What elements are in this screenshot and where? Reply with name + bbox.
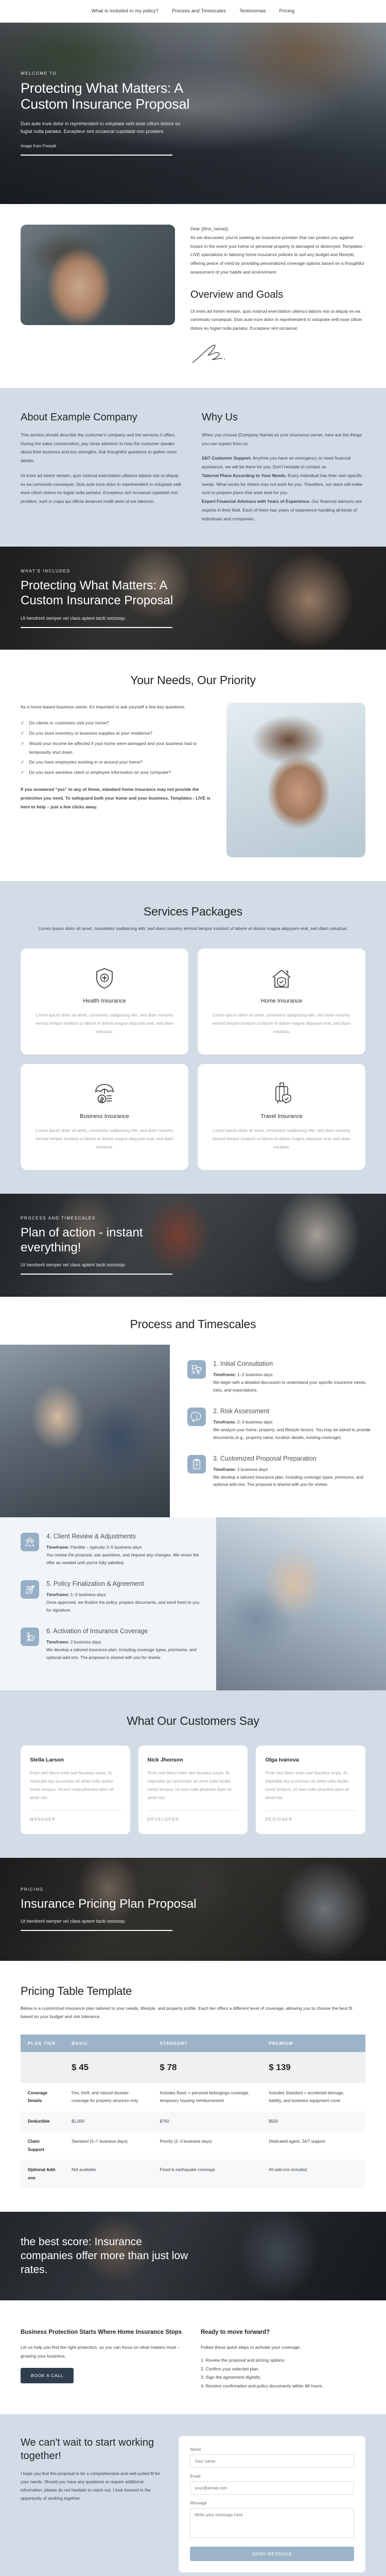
table-row: Claim Support Standard (5–7 business day… bbox=[21, 2131, 365, 2160]
needs-question-list: ✓Do clients or customers visit your home… bbox=[21, 719, 211, 777]
banner-subtitle: Ut hendrerit semper vel class aptent tac… bbox=[21, 616, 365, 621]
contact-left-text: Let us help you find the right protectio… bbox=[21, 2343, 185, 2361]
email-field-label: Email bbox=[190, 2474, 354, 2479]
quote-banner: the best score: Insurance companies offe… bbox=[0, 2212, 386, 2300]
timeframe-value: 2–3 business days bbox=[236, 1419, 273, 1425]
timeframe-value: 1–2 business days bbox=[69, 1592, 106, 1597]
timeframe-label: Timeframe: bbox=[213, 1419, 236, 1425]
process-photo-a bbox=[0, 1345, 170, 1517]
hero-subtitle: Duis aute irure dolor in reprehenderit i… bbox=[21, 120, 190, 136]
testimonial-card: Nick Jhonson Proin sed libero enim sed f… bbox=[138, 1745, 248, 1834]
why-us-item-label: Tailored Plans According to Your Needs. bbox=[202, 473, 287, 478]
contact-form-section: We can't wait to start working together!… bbox=[0, 2414, 386, 2576]
contact-right-text: Follow these quick steps to activate you… bbox=[201, 2343, 365, 2352]
needs-section: Your Needs, Our Priority As a home-based… bbox=[0, 650, 386, 881]
proposal-page: What is included in my policy? Process a… bbox=[0, 0, 386, 2576]
why-us-intro: When you choose [Company Name] as your i… bbox=[202, 431, 365, 448]
why-us-item: Expert Financial Advisors with Years of … bbox=[202, 497, 365, 523]
banner-title: Plan of action - instant everything! bbox=[21, 1225, 206, 1256]
row-label: Claim Support bbox=[21, 2131, 64, 2160]
overview-body: Ut enim ad minim veniam, quis nostrud ex… bbox=[190, 307, 365, 333]
hero-eyebrow: WELCOME TO bbox=[21, 71, 365, 76]
timeframe-label: Timeframe: bbox=[213, 1467, 236, 1472]
info-bubble-icon bbox=[187, 1408, 206, 1426]
check-icon: ✓ bbox=[21, 729, 25, 738]
umbrella-money-icon bbox=[34, 1079, 175, 1108]
cell: Not available bbox=[64, 2160, 152, 2188]
price-standart: $ 78 bbox=[152, 2052, 261, 2082]
timeframe-label: Timeframe: bbox=[46, 1545, 69, 1550]
cell: Dedicated agent, 24/7 support bbox=[261, 2131, 365, 2160]
needs-intro: As a home-based business owner, it's imp… bbox=[21, 703, 211, 711]
name-input[interactable] bbox=[190, 2454, 354, 2468]
process-step-body: Timeframe: 1–2 business daysWe begin wit… bbox=[213, 1371, 371, 1394]
price-premium: $ 139 bbox=[261, 2052, 365, 2082]
cell: Includes Basic + personal belongings cov… bbox=[152, 2083, 261, 2111]
service-card-title: Travel Insurance bbox=[211, 1113, 352, 1120]
service-card-text: Lorem ipsum dolor sit amet, consetetur s… bbox=[211, 1127, 352, 1151]
message-field-label: Message bbox=[190, 2501, 354, 2505]
check-icon: ✓ bbox=[21, 768, 25, 777]
process-step: 6. Activation of Insurance Coverage Time… bbox=[21, 1628, 201, 1662]
banner-title: Insurance Pricing Plan Proposal bbox=[21, 1896, 206, 1911]
banner-eyebrow: PROCESS AND TIMESCALES bbox=[21, 1216, 365, 1221]
process-step: 2. Risk Assessment Timeframe: 2–3 busine… bbox=[187, 1408, 371, 1442]
banner-whats-included: WHAT'S INCLUDED Protecting What Matters:… bbox=[0, 547, 386, 650]
process-step-title: 4. Client Review & Adjustments bbox=[46, 1533, 201, 1540]
letter-salutation: Dear {{first_name}}, bbox=[190, 225, 365, 233]
timeframe-label: Timeframe: bbox=[46, 1639, 69, 1645]
about-column: About Example Company This section shoul… bbox=[21, 412, 184, 523]
hero-image-credit: Image from Freepik bbox=[21, 144, 365, 148]
banner-pricing: PRICING Insurance Pricing Plan Proposal … bbox=[0, 1858, 386, 1961]
process-step-body: Timeframe: 2 business daysWe develop a t… bbox=[46, 1638, 201, 1662]
process-step-text: Once approved, we finalize the policy, p… bbox=[46, 1600, 199, 1613]
needs-question: Do you store sensitive client or employe… bbox=[29, 768, 171, 777]
process-title: Process and Timescales bbox=[0, 1317, 386, 1331]
testimonial-text: Proin sed libero enim sed faucibus turpi… bbox=[30, 1769, 121, 1802]
process-step-text: We analyze your home, property, and life… bbox=[213, 1427, 371, 1440]
contact-right: Ready to move forward? Follow these quic… bbox=[201, 2328, 365, 2390]
table-row-price: $ 45 $ 78 $ 139 bbox=[21, 2052, 365, 2082]
process-step-text: We develop a tailored insurance plan, in… bbox=[213, 1475, 363, 1487]
cell: $1,000 bbox=[64, 2111, 152, 2132]
contact-form: Name Email Message SEND MESSAGE bbox=[179, 2436, 365, 2572]
top-navigation: What is included in my policy? Process a… bbox=[0, 0, 386, 23]
testimonial-card: Stella Larson Proin sed libero enim sed … bbox=[21, 1745, 130, 1834]
hero-title: Protecting What Matters: A Custom Insura… bbox=[21, 80, 216, 113]
nav-item-policy[interactable]: What is included in my policy? bbox=[92, 8, 159, 14]
letter-body: As we discussed, you're seeking an insur… bbox=[190, 233, 365, 277]
pricing-section: Pricing Table Template Below is a custom… bbox=[0, 1961, 386, 2212]
contact-step: 1. Review the proposal and pricing optio… bbox=[201, 2356, 365, 2365]
form-text: I hope you find this proposal to be a co… bbox=[21, 2470, 161, 2503]
process-step-text: We develop a tailored insurance plan, in… bbox=[46, 1647, 197, 1660]
needs-closing: If you answered “yes” to any of these, s… bbox=[21, 785, 211, 811]
check-icon: ✓ bbox=[21, 739, 25, 756]
banner-divider bbox=[21, 1274, 172, 1275]
form-title: We can't wait to start working together! bbox=[21, 2436, 161, 2463]
check-icon: ✓ bbox=[21, 719, 25, 727]
contact-step: 3. Sign the agreement digitally. bbox=[201, 2373, 365, 2382]
service-card-text: Lorem ipsum dolor sit amet, consetetur s… bbox=[34, 1127, 175, 1151]
list-item: ✓Do you have employees working in or aro… bbox=[21, 758, 211, 767]
about-why-section: About Example Company This section shoul… bbox=[0, 388, 386, 547]
process-step-title: 2. Risk Assessment bbox=[213, 1408, 371, 1415]
testimonial-name: Nick Jhonson bbox=[148, 1757, 239, 1763]
why-us-item: Tailored Plans According to Your Needs. … bbox=[202, 471, 365, 497]
cell: Flood & earthquake coverage bbox=[152, 2160, 261, 2188]
process-step-body: Timeframe: 2–3 business daysWe analyze y… bbox=[213, 1418, 371, 1442]
service-card-title: Home Insurance bbox=[211, 998, 352, 1004]
person-shield-icon bbox=[21, 1628, 39, 1646]
column-header-basic: BASIC bbox=[64, 2035, 152, 2052]
nav-item-pricing[interactable]: Pricing bbox=[279, 8, 294, 14]
why-us-item-label: 24/7 Customer Support. bbox=[202, 455, 252, 461]
cell: Includes Standard + accidental damage, l… bbox=[261, 2083, 365, 2111]
list-item: ✓Would your income be affected if your h… bbox=[21, 739, 211, 756]
process-section: Process and Timescales 1. Initial Consul… bbox=[0, 1297, 386, 1690]
why-us-item-label: Expert Financial Advisors with Years of … bbox=[202, 499, 310, 504]
list-item: ✓Do you store inventory or business supp… bbox=[21, 729, 211, 738]
needs-question: Do you have employees working in or arou… bbox=[29, 758, 143, 767]
needs-question: Do you store inventory or business suppl… bbox=[29, 729, 152, 738]
testimonial-name: Olga Ivanova bbox=[265, 1757, 356, 1763]
process-step-body: Timeframe: 1–2 business daysOnce approve… bbox=[46, 1591, 201, 1614]
banner-subtitle: Ut hendrerit semper vel class aptent tac… bbox=[21, 1262, 365, 1267]
testimonial-name: Stella Larson bbox=[30, 1757, 121, 1763]
pricing-intro: Below is a customized insurance plan tai… bbox=[21, 2004, 365, 2022]
process-photo-b bbox=[216, 1517, 386, 1690]
divider bbox=[30, 1810, 121, 1811]
message-textarea[interactable] bbox=[190, 2508, 354, 2538]
column-header-premium: PREMIUM bbox=[261, 2035, 365, 2052]
hero-section: WELCOME TO Protecting What Matters: A Cu… bbox=[0, 23, 386, 204]
process-step: 4. Client Review & Adjustments Timeframe… bbox=[21, 1533, 201, 1567]
pricing-table: PLAN TIER BASIC STANDART PREMIUM $ 45 $ … bbox=[21, 2035, 365, 2188]
testimonials-section: What Our Customers Say Stella Larson Pro… bbox=[0, 1690, 386, 1858]
book-a-call-button[interactable]: BOOK A CALL bbox=[21, 2368, 74, 2383]
column-header-standart: STANDART bbox=[152, 2035, 261, 2052]
nav-item-process[interactable]: Process and Timescales bbox=[172, 8, 226, 14]
overview-title: Overview and Goals bbox=[190, 289, 365, 301]
banner-title: Protecting What Matters: A Custom Insura… bbox=[21, 578, 206, 608]
contact-step: 2. Confirm your selected plan. bbox=[201, 2365, 365, 2374]
table-row: Coverage Details Fire, theft, and natura… bbox=[21, 2083, 365, 2111]
cell: $500 bbox=[261, 2111, 365, 2132]
banner-eyebrow: WHAT'S INCLUDED bbox=[21, 569, 365, 573]
cell: Fire, theft, and natural disaster covera… bbox=[64, 2083, 152, 2111]
process-step-text: You review the proposal, ask questions, … bbox=[46, 1552, 199, 1565]
banner-subtitle: Ut hendrerit semper vel class aptent tac… bbox=[21, 1919, 365, 1924]
process-step-body: Timeframe: 2 business daysWe develop a t… bbox=[213, 1466, 371, 1489]
group-people-icon bbox=[21, 1533, 39, 1551]
needs-photo bbox=[226, 703, 365, 857]
check-icon: ✓ bbox=[21, 758, 25, 767]
service-card-business[interactable]: Business Insurance Lorem ipsum dolor sit… bbox=[21, 1064, 188, 1170]
why-us-item: 24/7 Customer Support. Anytime you have … bbox=[202, 454, 365, 471]
luggage-shield-icon bbox=[211, 1079, 352, 1108]
contact-left-title: Business Protection Starts Where Home In… bbox=[21, 2328, 185, 2337]
process-step: 5. Policy Finalization & Agreement Timef… bbox=[21, 1580, 201, 1614]
divider bbox=[148, 1810, 239, 1811]
quote-text: the best score: Insurance companies offe… bbox=[21, 2235, 190, 2277]
about-title: About Example Company bbox=[21, 412, 184, 423]
divider bbox=[265, 1810, 356, 1811]
service-card-travel[interactable]: Travel Insurance Lorem ipsum dolor sit a… bbox=[198, 1064, 365, 1170]
hero-divider bbox=[21, 155, 172, 156]
why-us-column: Why Us When you choose [Company Name] as… bbox=[202, 412, 365, 523]
cell: All add-ons included bbox=[261, 2160, 365, 2188]
signature-icon bbox=[190, 342, 252, 365]
process-step-title: 5. Policy Finalization & Agreement bbox=[46, 1580, 201, 1587]
service-card-title: Business Insurance bbox=[34, 1113, 175, 1120]
list-item: ✓Do you store sensitive client or employ… bbox=[21, 768, 211, 777]
about-paragraph-1: This section should describe the custome… bbox=[21, 431, 184, 465]
chat-people-icon bbox=[187, 1360, 206, 1379]
shield-medical-icon bbox=[34, 964, 175, 993]
about-paragraph-2: Ut enim ad minim veniam, quis nostrud ex… bbox=[21, 471, 184, 506]
banner-divider bbox=[21, 1930, 172, 1931]
services-section: Services Packages Lorem ipsum dolor sit … bbox=[0, 881, 386, 1194]
service-card-text: Lorem ipsum dolor sit amet, consetetur s… bbox=[34, 1011, 175, 1036]
banner-process: PROCESS AND TIMESCALES Plan of action - … bbox=[0, 1194, 386, 1297]
price-basic: $ 45 bbox=[64, 2052, 152, 2082]
process-step: 3. Customized Proposal Preparation Timef… bbox=[187, 1455, 371, 1489]
row-label: Optional Add-ons bbox=[21, 2160, 64, 2188]
contact-step: 4. Receive confirmation and policy docum… bbox=[201, 2382, 365, 2391]
table-header-row: PLAN TIER BASIC STANDART PREMIUM bbox=[21, 2035, 365, 2052]
timeframe-label: Timeframe: bbox=[46, 1592, 69, 1597]
timeframe-value: 1–2 business days bbox=[236, 1372, 273, 1377]
testimonial-role: DEVELOPER bbox=[148, 1817, 239, 1822]
timeframe-label: Timeframe: bbox=[213, 1372, 236, 1377]
row-label: Deductible bbox=[21, 2111, 64, 2132]
services-subtitle: Lorem ipsum dolor sit amet, consetetur s… bbox=[21, 925, 365, 933]
banner-eyebrow: PRICING bbox=[21, 1887, 365, 1892]
process-step-text: We begin with a detailed discussion to u… bbox=[213, 1380, 366, 1393]
advisor-portrait bbox=[21, 225, 175, 325]
needs-question: Do clients or customers visit your home? bbox=[29, 719, 109, 727]
row-label: Coverage Details bbox=[21, 2083, 64, 2111]
signature-icon bbox=[21, 1580, 39, 1599]
testimonial-card: Olga Ivanova Proin sed libero enim sed f… bbox=[256, 1745, 365, 1834]
contact-left: Business Protection Starts Where Home In… bbox=[21, 2328, 185, 2390]
testimonial-role: DESIGNER bbox=[265, 1817, 356, 1822]
column-header-plan-tier: PLAN TIER bbox=[21, 2035, 64, 2052]
cell: $750 bbox=[152, 2111, 261, 2132]
nav-item-testimonials[interactable]: Testimonias bbox=[239, 8, 266, 14]
price-row-label bbox=[21, 2052, 64, 2082]
timeframe-value: 2 business days bbox=[236, 1467, 268, 1472]
banner-divider bbox=[21, 627, 172, 628]
house-shield-icon bbox=[211, 964, 352, 993]
process-step-title: 6. Activation of Insurance Coverage bbox=[46, 1628, 201, 1635]
contact-section: Business Protection Starts Where Home In… bbox=[0, 2300, 386, 2414]
contact-right-title: Ready to move forward? bbox=[201, 2328, 365, 2337]
testimonials-title: What Our Customers Say bbox=[21, 1714, 365, 1728]
process-step: 1. Initial Consultation Timeframe: 1–2 b… bbox=[187, 1360, 371, 1394]
pricing-title: Pricing Table Template bbox=[21, 1985, 365, 1998]
cell: Standard (5–7 business days) bbox=[64, 2131, 152, 2160]
services-title: Services Packages bbox=[21, 905, 365, 919]
service-card-home[interactable]: Home Insurance Lorem ipsum dolor sit ame… bbox=[198, 948, 365, 1055]
letter-section: Dear {{first_name}}, As we discussed, yo… bbox=[0, 204, 386, 388]
testimonial-text: Proin sed libero enim sed faucibus turpi… bbox=[265, 1769, 356, 1802]
service-card-health[interactable]: Health Insurance Lorem ipsum dolor sit a… bbox=[21, 948, 188, 1055]
needs-question: Would your income be affected if your ho… bbox=[29, 739, 211, 756]
table-row: Deductible $1,000 $750 $500 bbox=[21, 2111, 365, 2132]
testimonial-role: MANAGER bbox=[30, 1817, 121, 1822]
service-card-title: Health Insurance bbox=[34, 998, 175, 1004]
process-step-body: Timeframe: Flexible – typically 2–5 busi… bbox=[46, 1544, 201, 1567]
cell: Priority (2–3 business days) bbox=[152, 2131, 261, 2160]
why-us-title: Why Us bbox=[202, 412, 365, 423]
process-step-title: 1. Initial Consultation bbox=[213, 1360, 371, 1367]
email-input[interactable] bbox=[190, 2481, 354, 2495]
testimonial-text: Proin sed libero enim sed faucibus turpi… bbox=[148, 1769, 239, 1802]
clipboard-icon bbox=[187, 1455, 206, 1473]
process-step-title: 3. Customized Proposal Preparation bbox=[213, 1455, 371, 1462]
list-item: ✓Do clients or customers visit your home… bbox=[21, 719, 211, 727]
service-card-text: Lorem ipsum dolor sit amet, consetetur s… bbox=[211, 1011, 352, 1036]
timeframe-value: Flexible – typically 2–5 business days bbox=[69, 1545, 142, 1550]
needs-title: Your Needs, Our Priority bbox=[21, 673, 365, 687]
table-row: Optional Add-ons Not available Flood & e… bbox=[21, 2160, 365, 2188]
send-message-button[interactable]: SEND MESSAGE bbox=[190, 2547, 354, 2561]
timeframe-value: 2 business days bbox=[69, 1639, 101, 1645]
name-field-label: Name bbox=[190, 2447, 354, 2452]
